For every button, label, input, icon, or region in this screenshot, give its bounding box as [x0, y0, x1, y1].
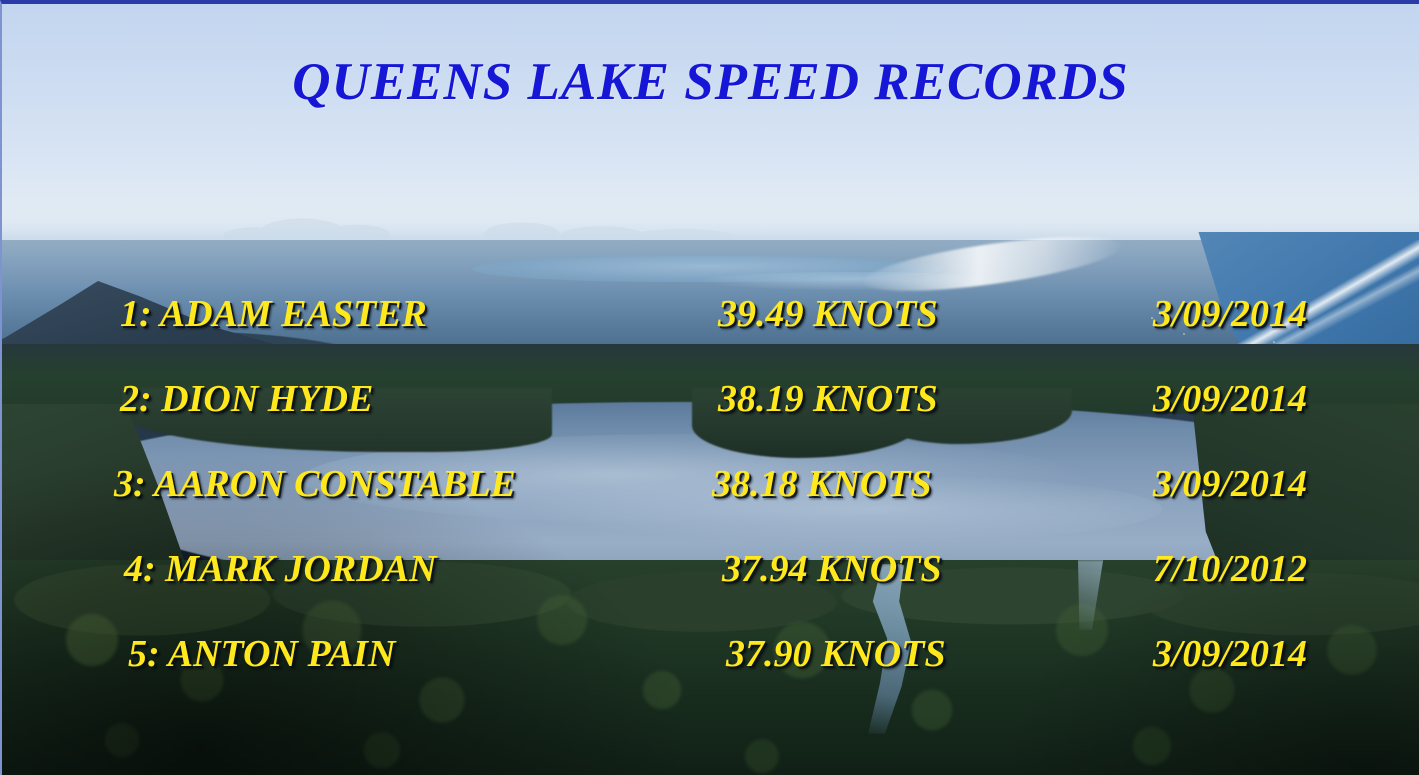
record-name: 3: AARON CONSTABLE	[114, 462, 712, 506]
record-speed: 39.49 KNOTS	[718, 292, 1036, 336]
record-name: 4: MARK JORDAN	[124, 547, 722, 591]
record-row: 3: AARON CONSTABLE 38.18 KNOTS 3/09/2014	[2, 462, 1419, 547]
record-row: 1: ADAM EASTER 39.49 KNOTS 3/09/2014	[2, 292, 1419, 377]
record-speed: 37.94 KNOTS	[722, 547, 1040, 591]
record-date: 3/09/2014	[1036, 292, 1307, 336]
record-date: 3/09/2014	[1036, 377, 1307, 421]
record-row: 4: MARK JORDAN 37.94 KNOTS 7/10/2012	[2, 547, 1419, 632]
record-speed: 38.18 KNOTS	[712, 462, 1030, 506]
record-speed: 38.19 KNOTS	[718, 377, 1036, 421]
record-name: 1: ADAM EASTER	[120, 292, 718, 336]
speed-records-poster: QUEENS LAKE SPEED RECORDS 1: ADAM EASTER…	[0, 0, 1419, 775]
record-date: 3/09/2014	[1044, 632, 1307, 676]
record-name: 5: ANTON PAIN	[128, 632, 726, 676]
record-speed: 37.90 KNOTS	[726, 632, 1044, 676]
record-row: 2: DION HYDE 38.19 KNOTS 3/09/2014	[2, 377, 1419, 462]
poster-content: QUEENS LAKE SPEED RECORDS 1: ADAM EASTER…	[2, 4, 1419, 775]
record-name: 2: DION HYDE	[120, 377, 718, 421]
record-date: 3/09/2014	[1030, 462, 1307, 506]
record-row: 5: ANTON PAIN 37.90 KNOTS 3/09/2014	[2, 632, 1419, 717]
record-date: 7/10/2012	[1040, 547, 1307, 591]
page-title: QUEENS LAKE SPEED RECORDS	[2, 56, 1419, 109]
records-list: 1: ADAM EASTER 39.49 KNOTS 3/09/2014 2: …	[2, 292, 1419, 717]
